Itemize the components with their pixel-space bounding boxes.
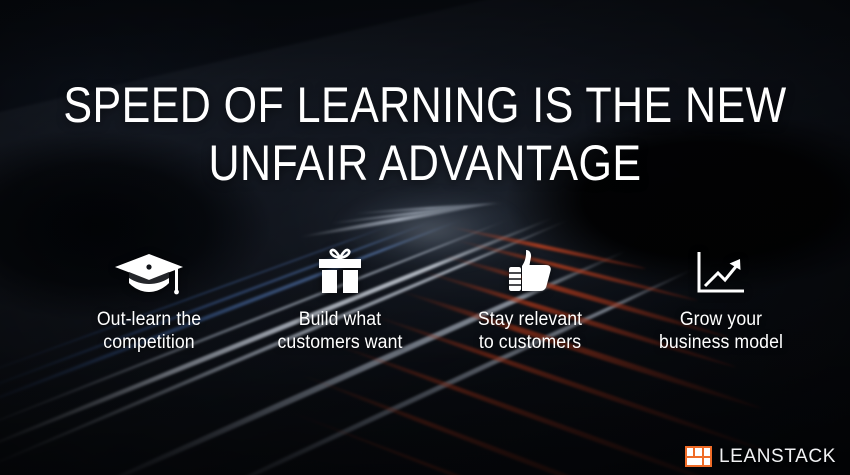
logo-block xyxy=(687,448,693,456)
leanstack-logo[interactable]: LEANSTACK xyxy=(685,446,836,467)
feature-caption: Stay relevant to customers xyxy=(444,308,617,354)
graduation-cap-icon xyxy=(56,248,242,296)
page-title: SPEED OF LEARNING IS THE NEW UNFAIR ADVA… xyxy=(60,76,791,192)
thumbs-up-icon xyxy=(437,248,623,296)
feature-item-out-learn: Out-learn the competition xyxy=(56,248,242,354)
leanstack-wordmark: LEANSTACK xyxy=(719,447,836,466)
feature-caption: Out-learn the competition xyxy=(63,308,236,354)
feature-item-build-what-customers-want: Build what customers want xyxy=(247,248,433,354)
logo-block xyxy=(704,458,710,466)
logo-block-wide xyxy=(687,458,702,466)
feature-caption: Build what customers want xyxy=(253,308,426,354)
growth-chart-icon xyxy=(628,248,814,296)
logo-block xyxy=(704,448,710,456)
feature-item-stay-relevant: Stay relevant to customers xyxy=(437,248,623,354)
feature-item-grow-business-model: Grow your business model xyxy=(628,248,814,354)
feature-row: Out-learn the competition Build what cus… xyxy=(56,248,814,354)
feature-caption: Grow your business model xyxy=(634,308,807,354)
slide-content: SPEED OF LEARNING IS THE NEW UNFAIR ADVA… xyxy=(0,0,850,475)
gift-icon xyxy=(247,248,433,296)
leanstack-blocks-icon xyxy=(685,446,712,467)
logo-block xyxy=(695,448,701,456)
slide-canvas: SPEED OF LEARNING IS THE NEW UNFAIR ADVA… xyxy=(0,0,850,475)
